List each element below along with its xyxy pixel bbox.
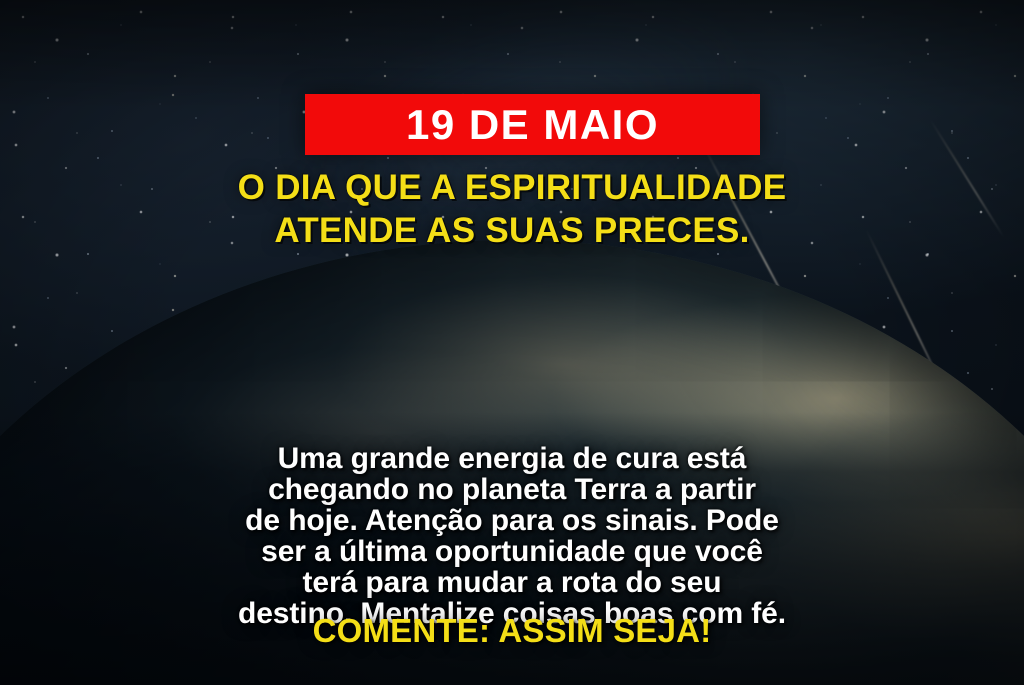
body-paragraph: Uma grande energia de cura está chegando…	[0, 443, 1024, 629]
poster-canvas: 19 DE MAIO O DIA QUE A ESPIRITUALIDADE A…	[0, 0, 1024, 685]
body-line-3: de hoje. Atenção para os sinais. Pode	[0, 505, 1024, 536]
body-line-1: Uma grande energia de cura está	[0, 443, 1024, 474]
call-to-action: COMENTE: ASSIM SEJA!	[0, 614, 1024, 647]
body-line-4: ser a última oportunidade que você	[0, 536, 1024, 567]
call-to-action-text: COMENTE: ASSIM SEJA!	[313, 612, 712, 649]
poster-content: 19 DE MAIO O DIA QUE A ESPIRITUALIDADE A…	[0, 0, 1024, 685]
headline: O DIA QUE A ESPIRITUALIDADE ATENDE AS SU…	[0, 166, 1024, 252]
headline-line-1: O DIA QUE A ESPIRITUALIDADE	[0, 166, 1024, 209]
body-line-2: chegando no planeta Terra a partir	[0, 474, 1024, 505]
date-banner-text: 19 DE MAIO	[406, 104, 659, 146]
body-line-5: terá para mudar a rota do seu	[0, 567, 1024, 598]
date-banner: 19 DE MAIO	[305, 94, 760, 155]
headline-line-2: ATENDE AS SUAS PRECES.	[0, 209, 1024, 252]
